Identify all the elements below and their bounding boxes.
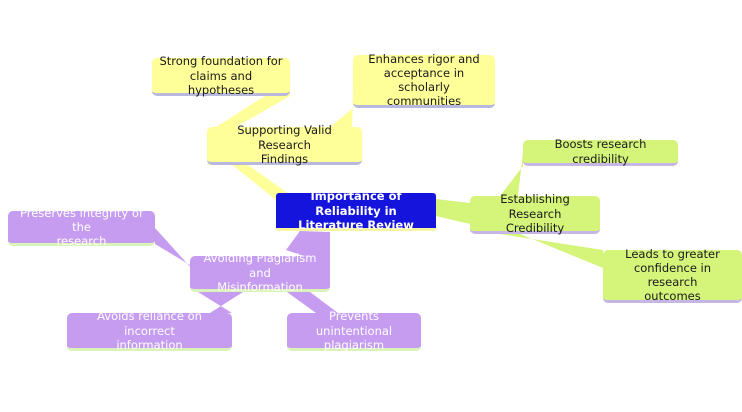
- mindmap-node-center[interactable]: Importance of Reliability in Literature …: [276, 193, 436, 231]
- node-label: Enhances rigor and acceptance in scholar…: [360, 52, 488, 108]
- node-label: Strong foundation for claims and hypothe…: [159, 54, 283, 96]
- node-label: Establishing Research Credibility: [477, 192, 593, 234]
- connector-establishing-to-boosts: [500, 152, 523, 196]
- node-label: Avoids reliance on incorrect information: [74, 309, 225, 351]
- node-label: Preserves integrity of the research: [15, 206, 148, 248]
- node-label: Boosts research credibility: [530, 137, 671, 165]
- mindmap-node-preserves-integrity-of-the-research[interactable]: Preserves integrity of the research: [8, 211, 155, 246]
- mindmap-node-avoids-reliance-on-incorrect-information[interactable]: Avoids reliance on incorrect information: [67, 313, 232, 351]
- node-label: Avoiding Plagiarism and Misinformation: [197, 251, 323, 293]
- mindmap-node-strong-foundation-for-claims-and-hypotheses[interactable]: Strong foundation for claims and hypothe…: [152, 58, 290, 96]
- connector-supporting-to-enhances-rigor: [330, 92, 353, 127]
- mindmap-node-establishing-research-credibility[interactable]: Establishing Research Credibility: [470, 196, 600, 234]
- node-label: Prevents unintentional plagiarism: [294, 309, 414, 351]
- mindmap-node-boosts-research-credibility[interactable]: Boosts research credibility: [523, 140, 678, 166]
- node-label: Importance of Reliability in Literature …: [283, 189, 429, 231]
- connector-establishing-left-stub: [455, 206, 470, 218]
- mindmap-node-supporting-valid-research-findings[interactable]: Supporting Valid Research Findings: [207, 127, 362, 165]
- mindmap-node-avoiding-plagiarism-and-misinformation[interactable]: Avoiding Plagiarism and Misinformation: [190, 256, 330, 292]
- mindmap-node-prevents-unintentional-plagiarism[interactable]: Prevents unintentional plagiarism: [287, 313, 421, 351]
- node-label: Supporting Valid Research Findings: [214, 123, 355, 165]
- mindmap-node-leads-to-greater-confidence[interactable]: Leads to greater confidence in research …: [603, 250, 742, 303]
- mindmap-node-enhances-rigor-and-acceptance[interactable]: Enhances rigor and acceptance in scholar…: [353, 55, 495, 108]
- mindmap-canvas: Importance of Reliability in Literature …: [0, 0, 742, 412]
- node-label: Leads to greater confidence in research …: [610, 247, 735, 303]
- connector-establishing-to-leads: [500, 234, 603, 268]
